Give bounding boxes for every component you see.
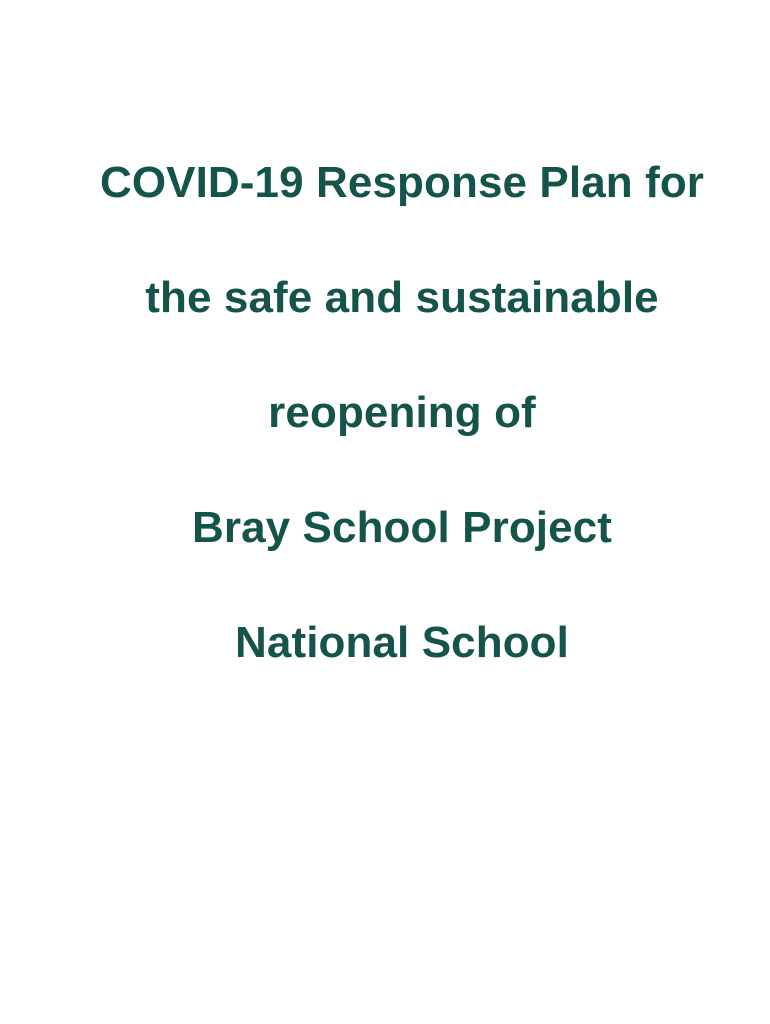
document-page: COVID-19 Response Plan for the safe and … <box>0 0 770 1024</box>
title-line-1: COVID-19 Response Plan for <box>68 125 736 240</box>
title-line-3: reopening of <box>68 355 736 470</box>
title-line-4: Bray School Project <box>68 470 736 585</box>
title-line-2: the safe and sustainable <box>68 240 736 355</box>
document-title-block: COVID-19 Response Plan for the safe and … <box>68 125 736 700</box>
title-line-5: National School <box>68 585 736 700</box>
page-blank-area <box>0 700 770 1024</box>
document-body: COVID-19 Response Plan for the safe and … <box>0 0 770 700</box>
